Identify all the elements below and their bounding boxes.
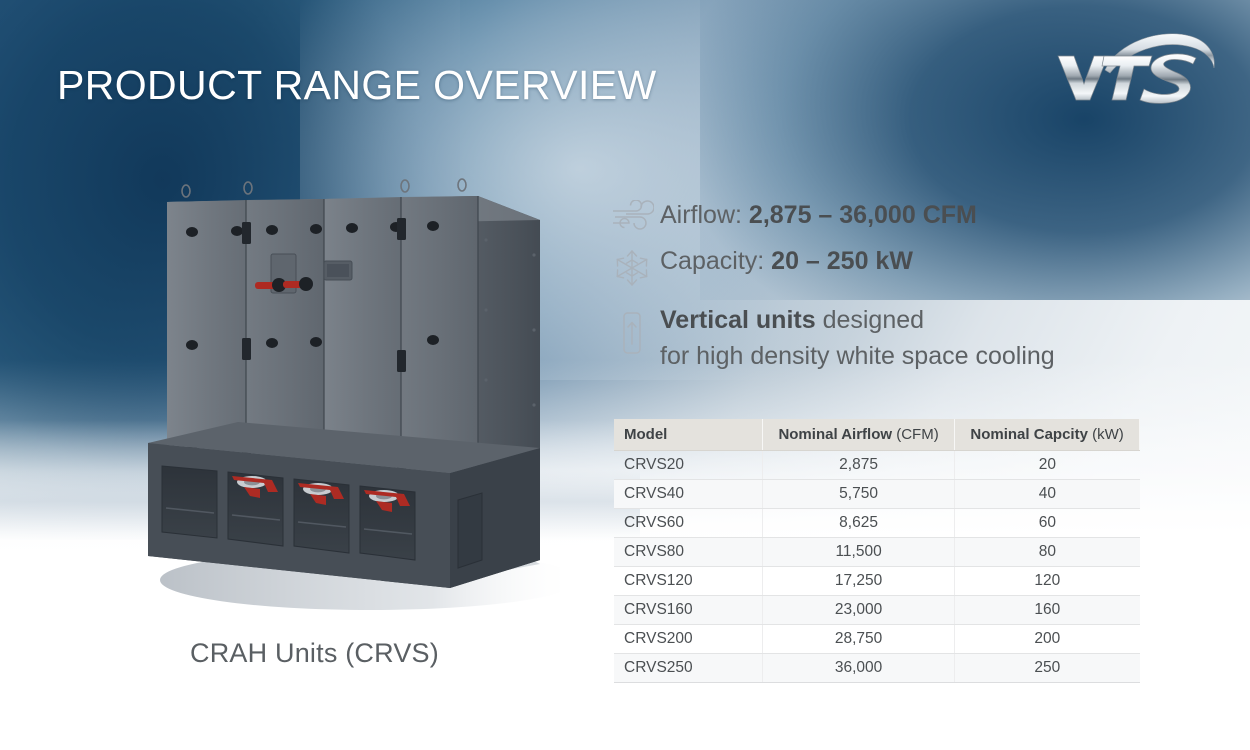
column-header-capacity-label: Nominal Capcity [970, 426, 1088, 443]
table-row: CRVS405,75040 [614, 480, 1140, 509]
cell-airflow: 17,250 [763, 567, 955, 596]
feature-vertical-text: Vertical units designed for high density… [660, 302, 1055, 374]
cell-model: CRVS40 [614, 480, 763, 509]
feature-vertical-rest: designed [816, 306, 924, 334]
spec-table-head: Model Nominal Airflow (CFM) Nominal Capc… [614, 419, 1140, 451]
column-header-airflow: Nominal Airflow (CFM) [763, 419, 955, 451]
column-header-capacity-unit: (kW) [1088, 426, 1124, 443]
cell-capacity: 80 [955, 538, 1140, 567]
cell-airflow: 28,750 [763, 625, 955, 654]
column-header-airflow-label: Nominal Airflow [778, 426, 892, 443]
feature-airflow-value: 2,875 – 36,000 CFM [749, 201, 977, 229]
cell-capacity: 40 [955, 480, 1140, 509]
spec-table-body: CRVS202,87520CRVS405,75040CRVS608,62560C… [614, 451, 1140, 683]
feature-airflow: Airflow: 2,875 – 36,000 CFM [604, 196, 1164, 234]
feature-airflow-label: Airflow: [660, 201, 742, 229]
cell-airflow: 8,625 [763, 509, 955, 538]
feature-airflow-text: Airflow: 2,875 – 36,000 CFM [660, 196, 977, 232]
product-caption: CRAH Units (CRVS) [190, 638, 520, 669]
cell-airflow: 23,000 [763, 596, 955, 625]
cell-model: CRVS80 [614, 538, 763, 567]
feature-list: Airflow: 2,875 – 36,000 CFM Capacity: 20… [604, 196, 1164, 384]
page-title: PRODUCT RANGE OVERVIEW [57, 62, 657, 109]
cell-model: CRVS250 [614, 654, 763, 683]
feature-vertical-line2: for high density white space cooling [660, 342, 1055, 370]
vts-logo [1048, 26, 1228, 108]
table-row: CRVS25036,000250 [614, 654, 1140, 683]
wind-icon [604, 196, 660, 234]
table-row: CRVS608,62560 [614, 509, 1140, 538]
table-row: CRVS202,87520 [614, 451, 1140, 480]
cell-airflow: 2,875 [763, 451, 955, 480]
cell-model: CRVS160 [614, 596, 763, 625]
table-row: CRVS20028,750200 [614, 625, 1140, 654]
spec-table-header-row: Model Nominal Airflow (CFM) Nominal Capc… [614, 419, 1140, 451]
feature-vertical: Vertical units designed for high density… [604, 302, 1164, 374]
cell-capacity: 60 [955, 509, 1140, 538]
cell-airflow: 5,750 [763, 480, 955, 509]
column-header-model-label: Model [624, 426, 667, 443]
cell-airflow: 36,000 [763, 654, 955, 683]
product-image [120, 160, 560, 620]
snowflake-icon [604, 244, 660, 288]
feature-capacity: Capacity: 20 – 250 kW [604, 244, 1164, 288]
feature-vertical-strong: Vertical units [660, 306, 816, 334]
cell-model: CRVS20 [614, 451, 763, 480]
cell-airflow: 11,500 [763, 538, 955, 567]
cell-capacity: 200 [955, 625, 1140, 654]
column-header-airflow-unit: (CFM) [892, 426, 939, 443]
vertical-unit-icon [604, 302, 660, 356]
table-row: CRVS8011,50080 [614, 538, 1140, 567]
column-header-capacity: Nominal Capcity (kW) [955, 419, 1140, 451]
spec-table: Model Nominal Airflow (CFM) Nominal Capc… [614, 419, 1140, 683]
table-row: CRVS12017,250120 [614, 567, 1140, 596]
table-row: CRVS16023,000160 [614, 596, 1140, 625]
cell-model: CRVS60 [614, 509, 763, 538]
column-header-model: Model [614, 419, 763, 451]
cell-capacity: 160 [955, 596, 1140, 625]
cell-model: CRVS120 [614, 567, 763, 596]
feature-capacity-label: Capacity: [660, 247, 764, 275]
cell-capacity: 250 [955, 654, 1140, 683]
cell-capacity: 20 [955, 451, 1140, 480]
cell-capacity: 120 [955, 567, 1140, 596]
cell-model: CRVS200 [614, 625, 763, 654]
slide-root: PRODUCT RANGE OVERVIEW [0, 0, 1250, 750]
feature-capacity-text: Capacity: 20 – 250 kW [660, 244, 913, 278]
feature-capacity-value: 20 – 250 kW [771, 247, 913, 275]
